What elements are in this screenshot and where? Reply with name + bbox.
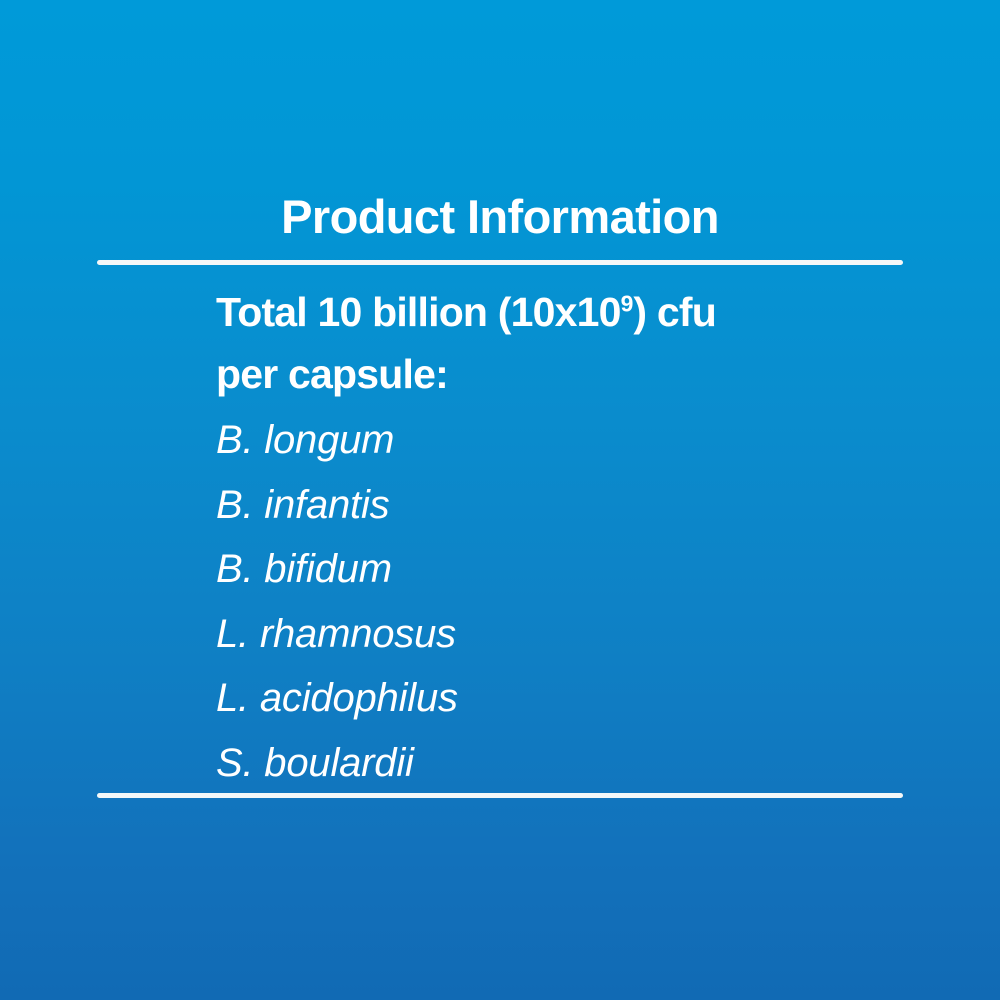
dosage-suffix-text: ) cfu bbox=[633, 289, 716, 335]
divider-bottom bbox=[97, 793, 903, 798]
strain-list: B. longum B. infantis B. bifidum L. rham… bbox=[216, 408, 916, 795]
product-information-body: Total 10 billion (10x109) cfu per capsul… bbox=[216, 281, 916, 795]
dosage-prefix-text: Total 10 billion (10x10 bbox=[216, 289, 621, 335]
product-information-panel: Product Information Total 10 billion (10… bbox=[0, 0, 1000, 1000]
dosage-heading-line-2: per capsule: bbox=[216, 343, 916, 405]
dosage-heading-line-1: Total 10 billion (10x109) cfu bbox=[216, 281, 916, 343]
list-item: B. bifidum bbox=[216, 537, 916, 602]
list-item: B. longum bbox=[216, 408, 916, 473]
dosage-superscript: 9 bbox=[621, 290, 634, 316]
page-title: Product Information bbox=[0, 193, 1000, 240]
list-item: L. acidophilus bbox=[216, 666, 916, 731]
divider-top bbox=[97, 260, 903, 265]
list-item: L. rhamnosus bbox=[216, 602, 916, 667]
list-item: B. infantis bbox=[216, 473, 916, 538]
list-item: S. boulardii bbox=[216, 731, 916, 796]
